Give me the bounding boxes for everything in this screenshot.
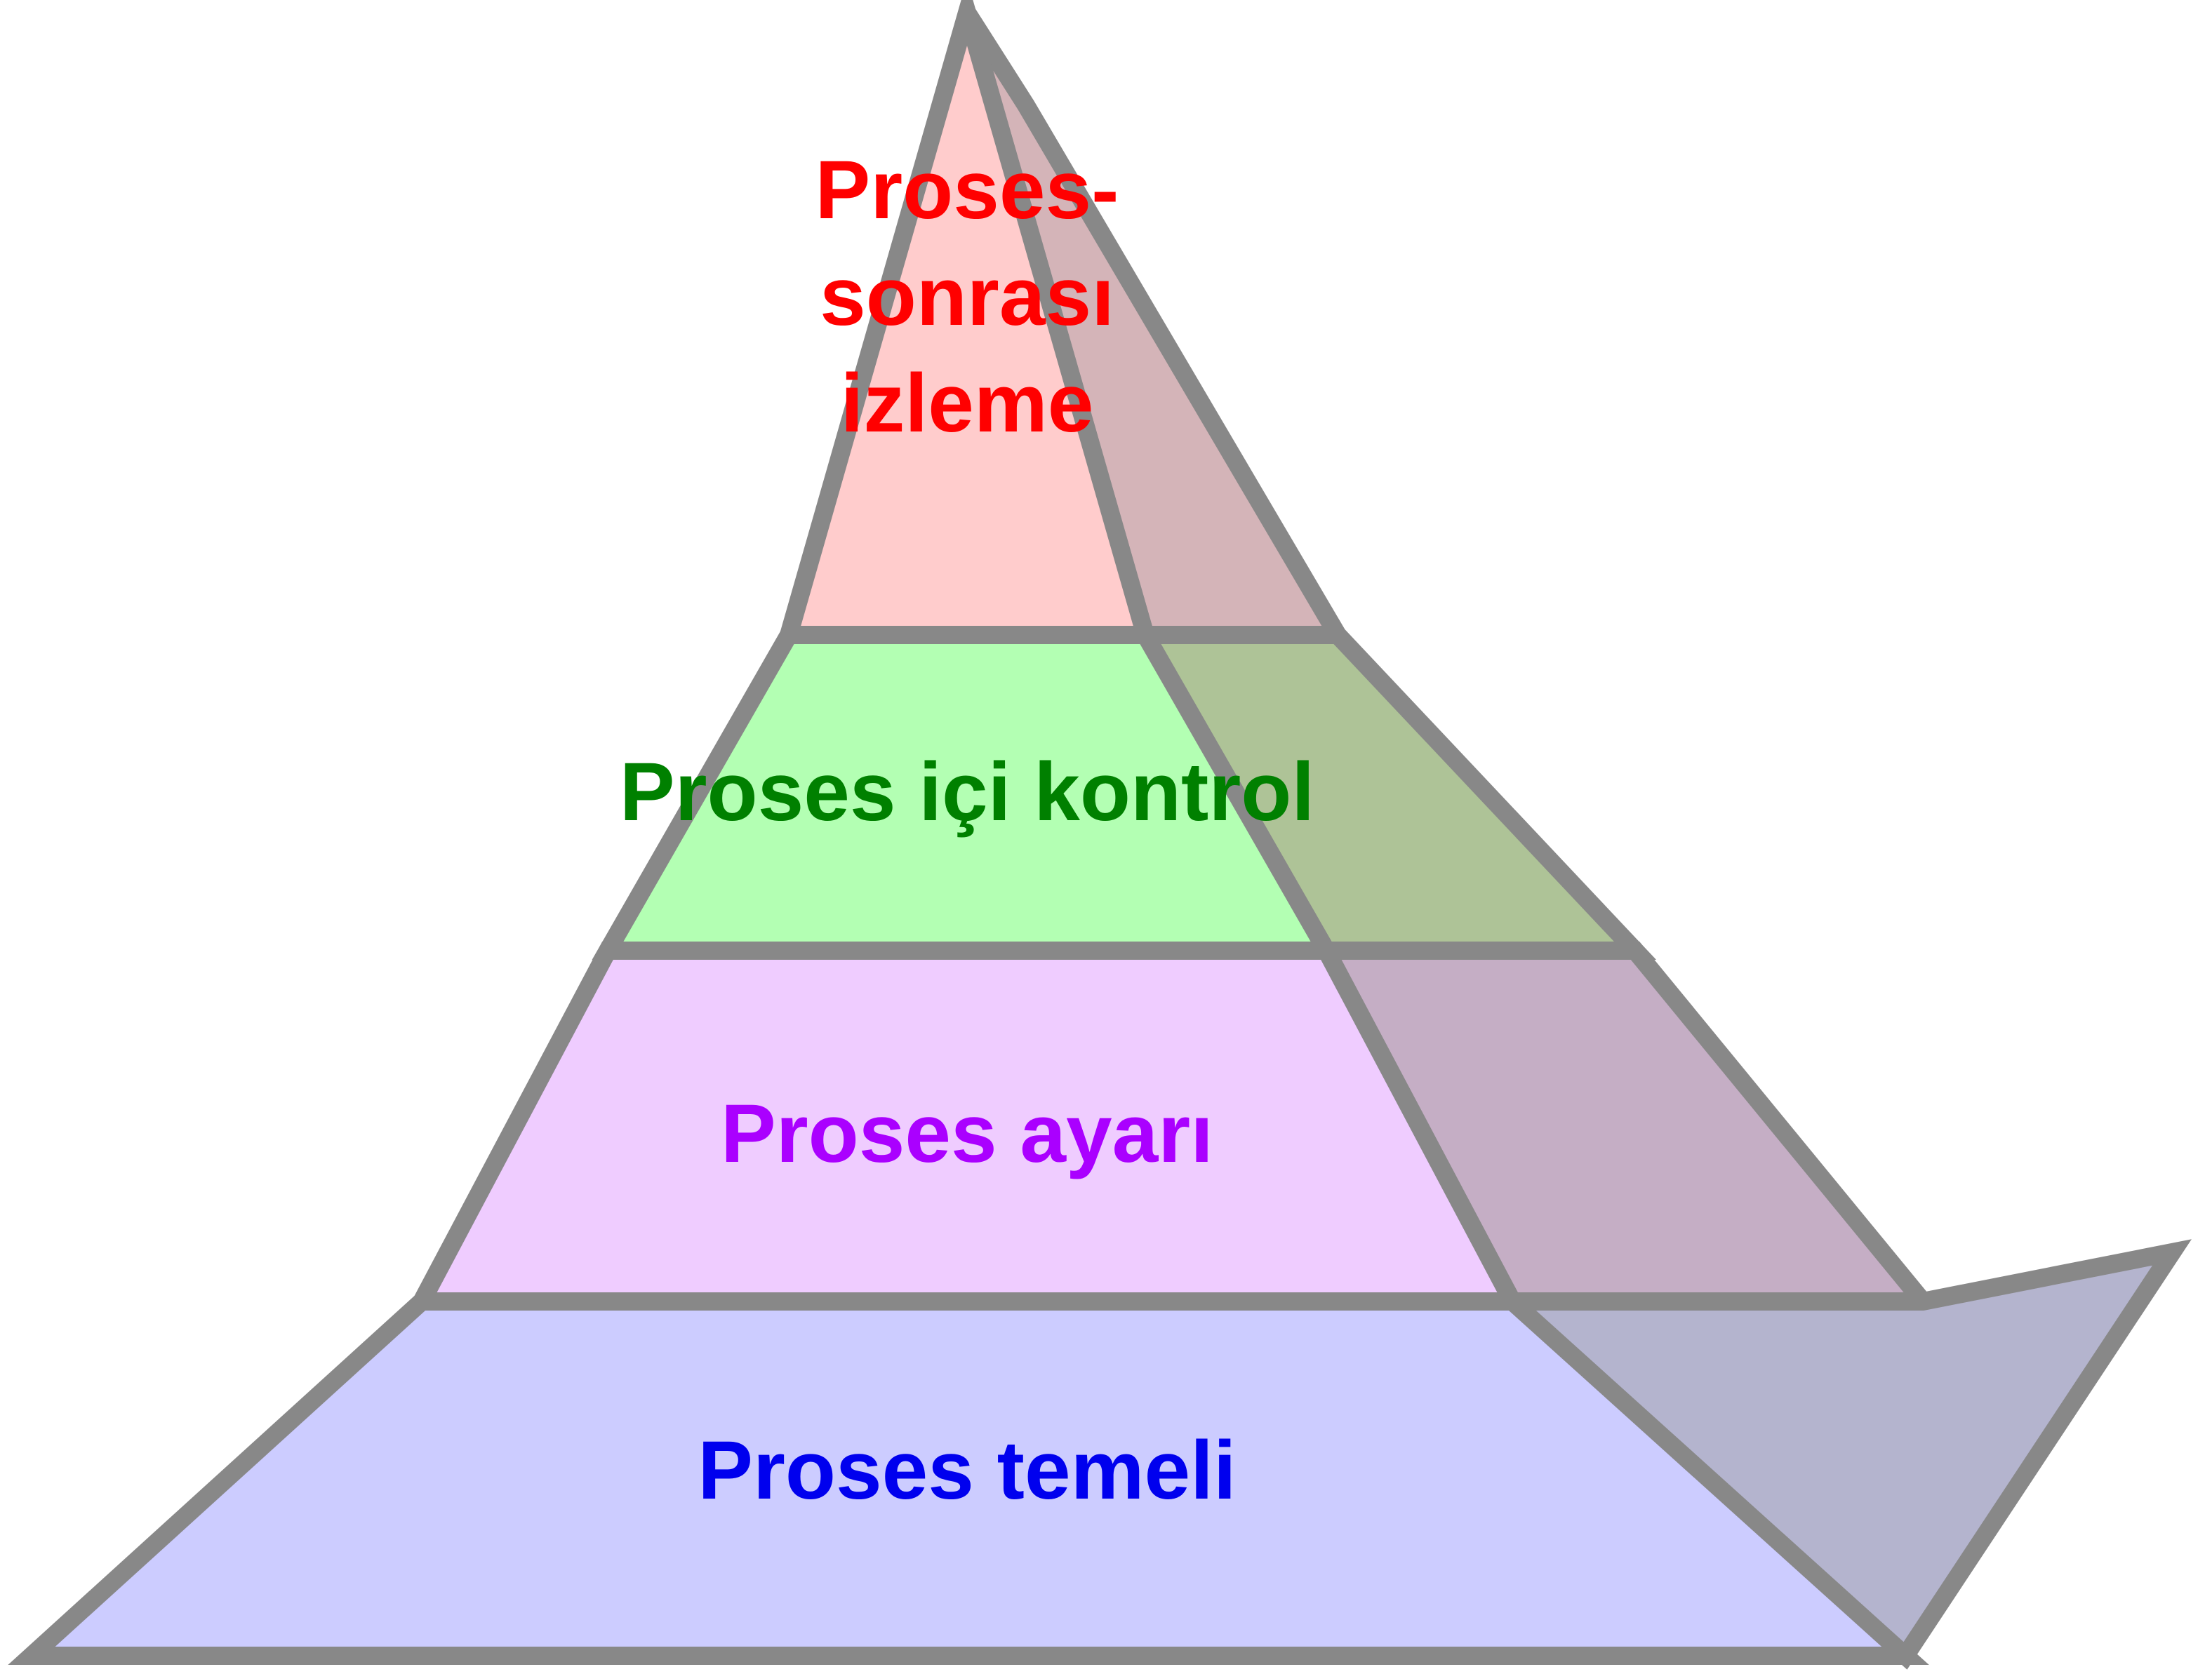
tier-1-label-line-3: izleme (841, 357, 1094, 450)
pyramid-diagram: Proses- sonrası izleme Proses içi kontro… (0, 0, 2212, 1674)
tier-2-label: Proses içi kontrol (620, 746, 1314, 838)
tier-4-label: Proses temeli (698, 1424, 1236, 1517)
tier-1-label-line-1: Proses- (815, 144, 1119, 236)
tier-1-label-line-2: sonrası (820, 250, 1114, 343)
tier-3-label: Proses ayarı (721, 1087, 1213, 1180)
pyramid-graphic: Proses- sonrası izleme Proses içi kontro… (0, 0, 2212, 1674)
